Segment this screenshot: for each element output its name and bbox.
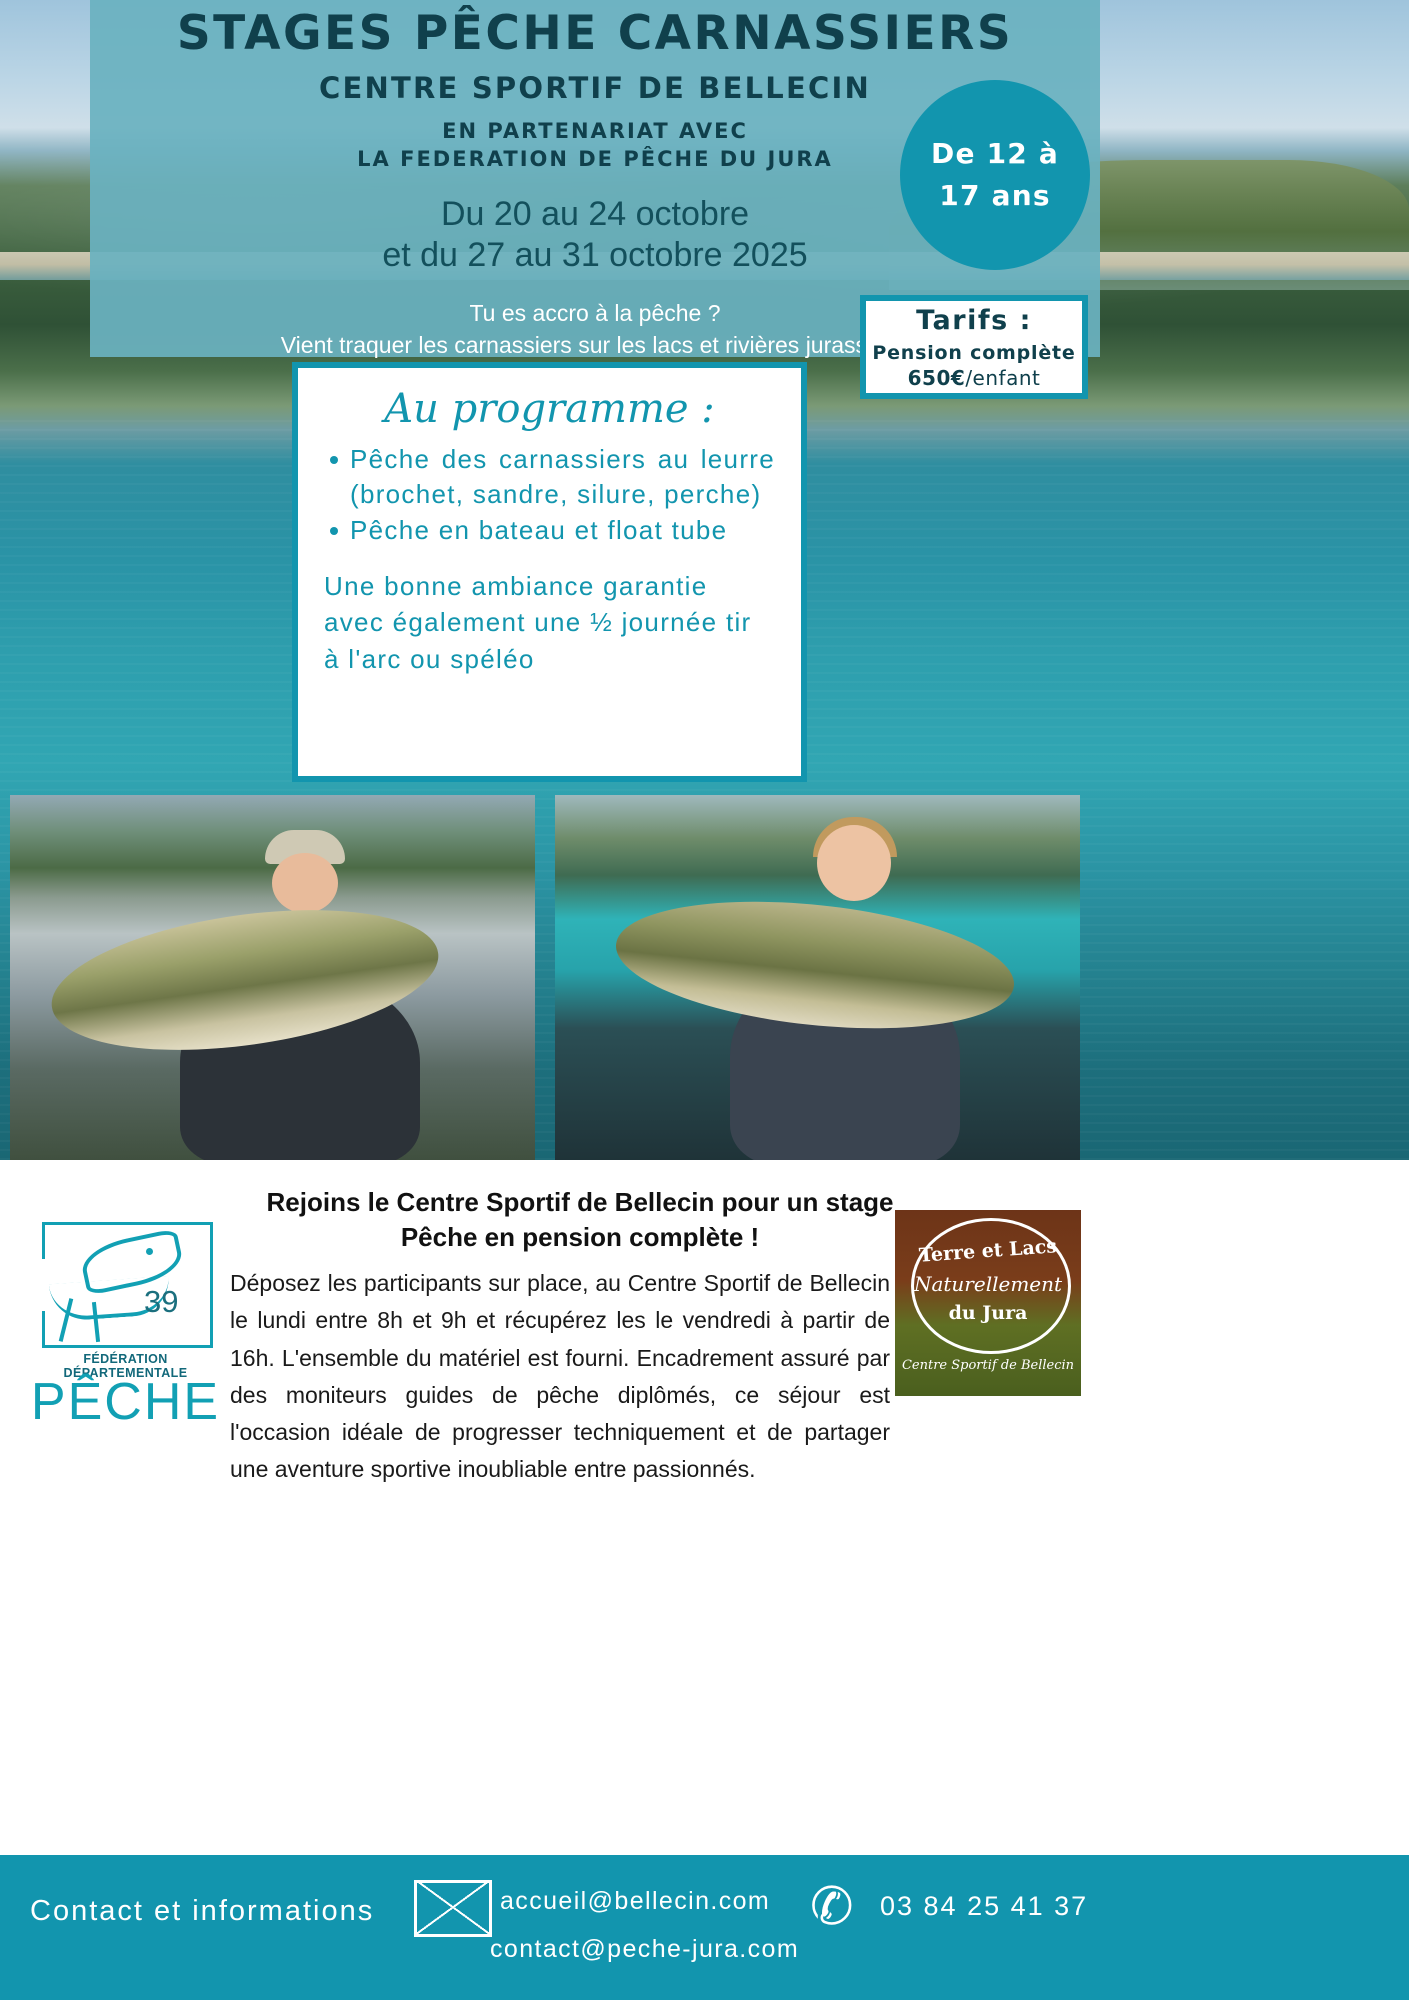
poster: STAGES PÊCHE CARNASSIERS CENTRE SPORTIF … [0,0,1409,2000]
logo-department-number: 39 [144,1284,178,1320]
phone-icon: ✆ [810,1881,854,1933]
terre-logo-line4: Centre Sportif de Bellecin [895,1358,1081,1373]
terre-logo-line3: du Jura [895,1302,1081,1324]
phone-number-link[interactable]: 03 84 25 41 37 [880,1891,1088,1922]
list-item: Pêche en bateau et float tube [324,513,775,548]
age-badge: De 12 à 17 ans [900,80,1090,270]
programme-title: Au programme : [324,386,775,432]
tarifs-title: Tarifs : [866,305,1082,336]
programme-note: Une bonne ambiance garantie avec égaleme… [324,568,775,677]
footer-label: Contact et informations [30,1895,374,1928]
photo-bass-catch [10,795,535,1160]
programme-box: Au programme : Pêche des carnassiers au … [292,362,807,782]
logo-word: PÊCHE [28,1372,223,1432]
programme-list: Pêche des carnassiers au leurre (brochet… [324,442,775,548]
terre-logo-line2: Naturellement [895,1272,1081,1296]
bottom-heading: Rejoins le Centre Sportif de Bellecin po… [230,1185,930,1255]
photo-zander-catch [555,795,1080,1160]
angler-face [272,853,338,913]
age-badge-line1: De 12 à [931,133,1059,175]
tarifs-unit: /enfant [965,366,1040,390]
bottom-description: Déposez les participants sur place, au C… [230,1265,890,1489]
email-link-contact[interactable]: contact@peche-jura.com [490,1935,799,1964]
tarifs-pension-label: Pension complète [866,342,1082,364]
federation-peche-logo: 39 FÉDÉRATION DÉPARTEMENTALE PÊCHE [28,1222,223,1452]
tarifs-price: 650€ [908,366,966,390]
footer-contact-bar: Contact et informations accueil@bellecin… [0,1855,1409,2000]
list-item: Pêche des carnassiers au leurre (brochet… [324,442,775,511]
age-badge-line2: 17 ans [939,175,1050,217]
bottom-heading-line2: Pêche en pension complète ! [230,1220,930,1255]
photo-gallery [10,795,1399,1160]
tarifs-box: Tarifs : Pension complète 650€/enfant [860,295,1088,399]
bottom-section: 39 FÉDÉRATION DÉPARTEMENTALE PÊCHE Rejoi… [0,1160,1409,1855]
bottom-heading-line1: Rejoins le Centre Sportif de Bellecin po… [230,1185,930,1220]
tarifs-price-row: 650€/enfant [866,366,1082,390]
fish-zander [610,884,1020,1045]
terre-et-lacs-logo: Terre et Lacs Naturellement du Jura Cent… [895,1210,1081,1396]
angler-face [817,825,891,901]
envelope-icon [414,1880,492,1937]
page-title: STAGES PÊCHE CARNASSIERS [90,10,1100,57]
fish-eye-icon [146,1248,153,1255]
email-link-accueil[interactable]: accueil@bellecin.com [500,1887,770,1916]
